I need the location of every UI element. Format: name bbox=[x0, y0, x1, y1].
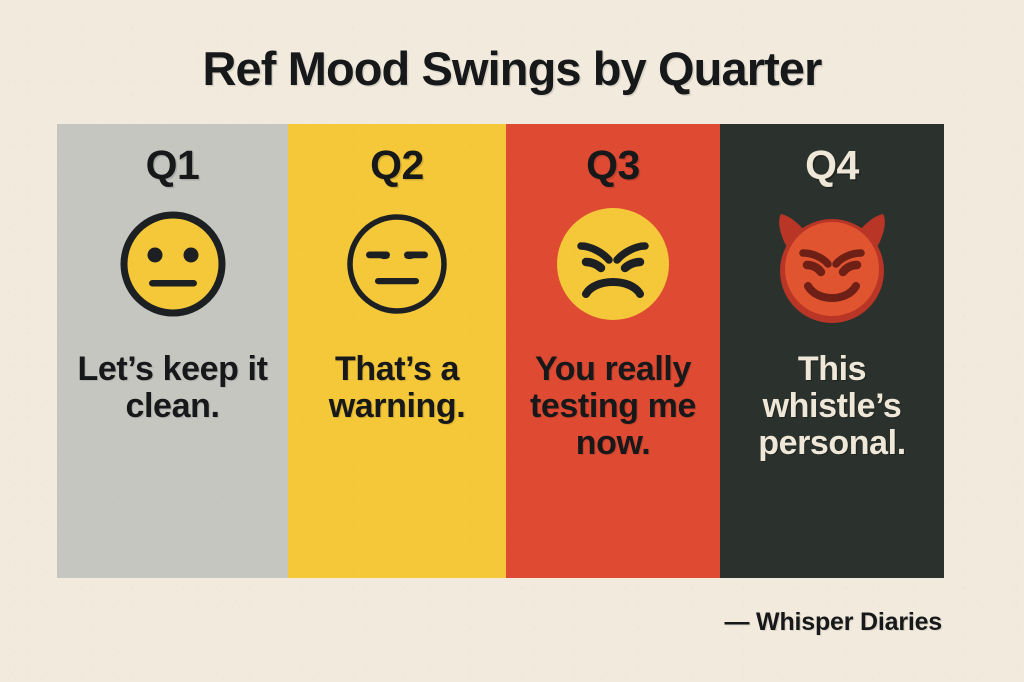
quarter-caption-q3: You really testing me now. bbox=[506, 351, 720, 462]
page-title: Ref Mood Swings by Quarter bbox=[0, 45, 1024, 92]
angry-face-icon bbox=[548, 199, 678, 329]
quarter-panel-q2: Q2 That’s a warning. bbox=[288, 124, 506, 578]
devil-face-icon bbox=[767, 199, 897, 329]
unamused-face-icon bbox=[332, 199, 462, 329]
mood-infographic: Ref Mood Swings by Quarter Q1 Let’s keep… bbox=[0, 0, 1024, 682]
quarter-label-q1: Q1 bbox=[146, 145, 200, 186]
attribution-credit: — Whisper Diaries bbox=[725, 608, 943, 637]
quarter-caption-q1: Let’s keep it clean. bbox=[57, 351, 288, 425]
quarter-panel-band: Q1 Let’s keep it clean. Q2 bbox=[57, 124, 944, 578]
neutral-face-icon bbox=[108, 199, 238, 329]
quarter-label-q4: Q4 bbox=[805, 145, 859, 186]
quarter-caption-q4: This whistle’s personal. bbox=[720, 351, 944, 462]
quarter-caption-q2: That’s a warning. bbox=[288, 351, 506, 425]
quarter-label-q3: Q3 bbox=[586, 145, 640, 186]
quarter-panel-q1: Q1 Let’s keep it clean. bbox=[57, 124, 288, 578]
quarter-label-q2: Q2 bbox=[370, 145, 424, 186]
quarter-panel-q4: Q4 This bbox=[720, 124, 944, 578]
quarter-panel-q3: Q3 You really testing me now. bbox=[506, 124, 720, 578]
